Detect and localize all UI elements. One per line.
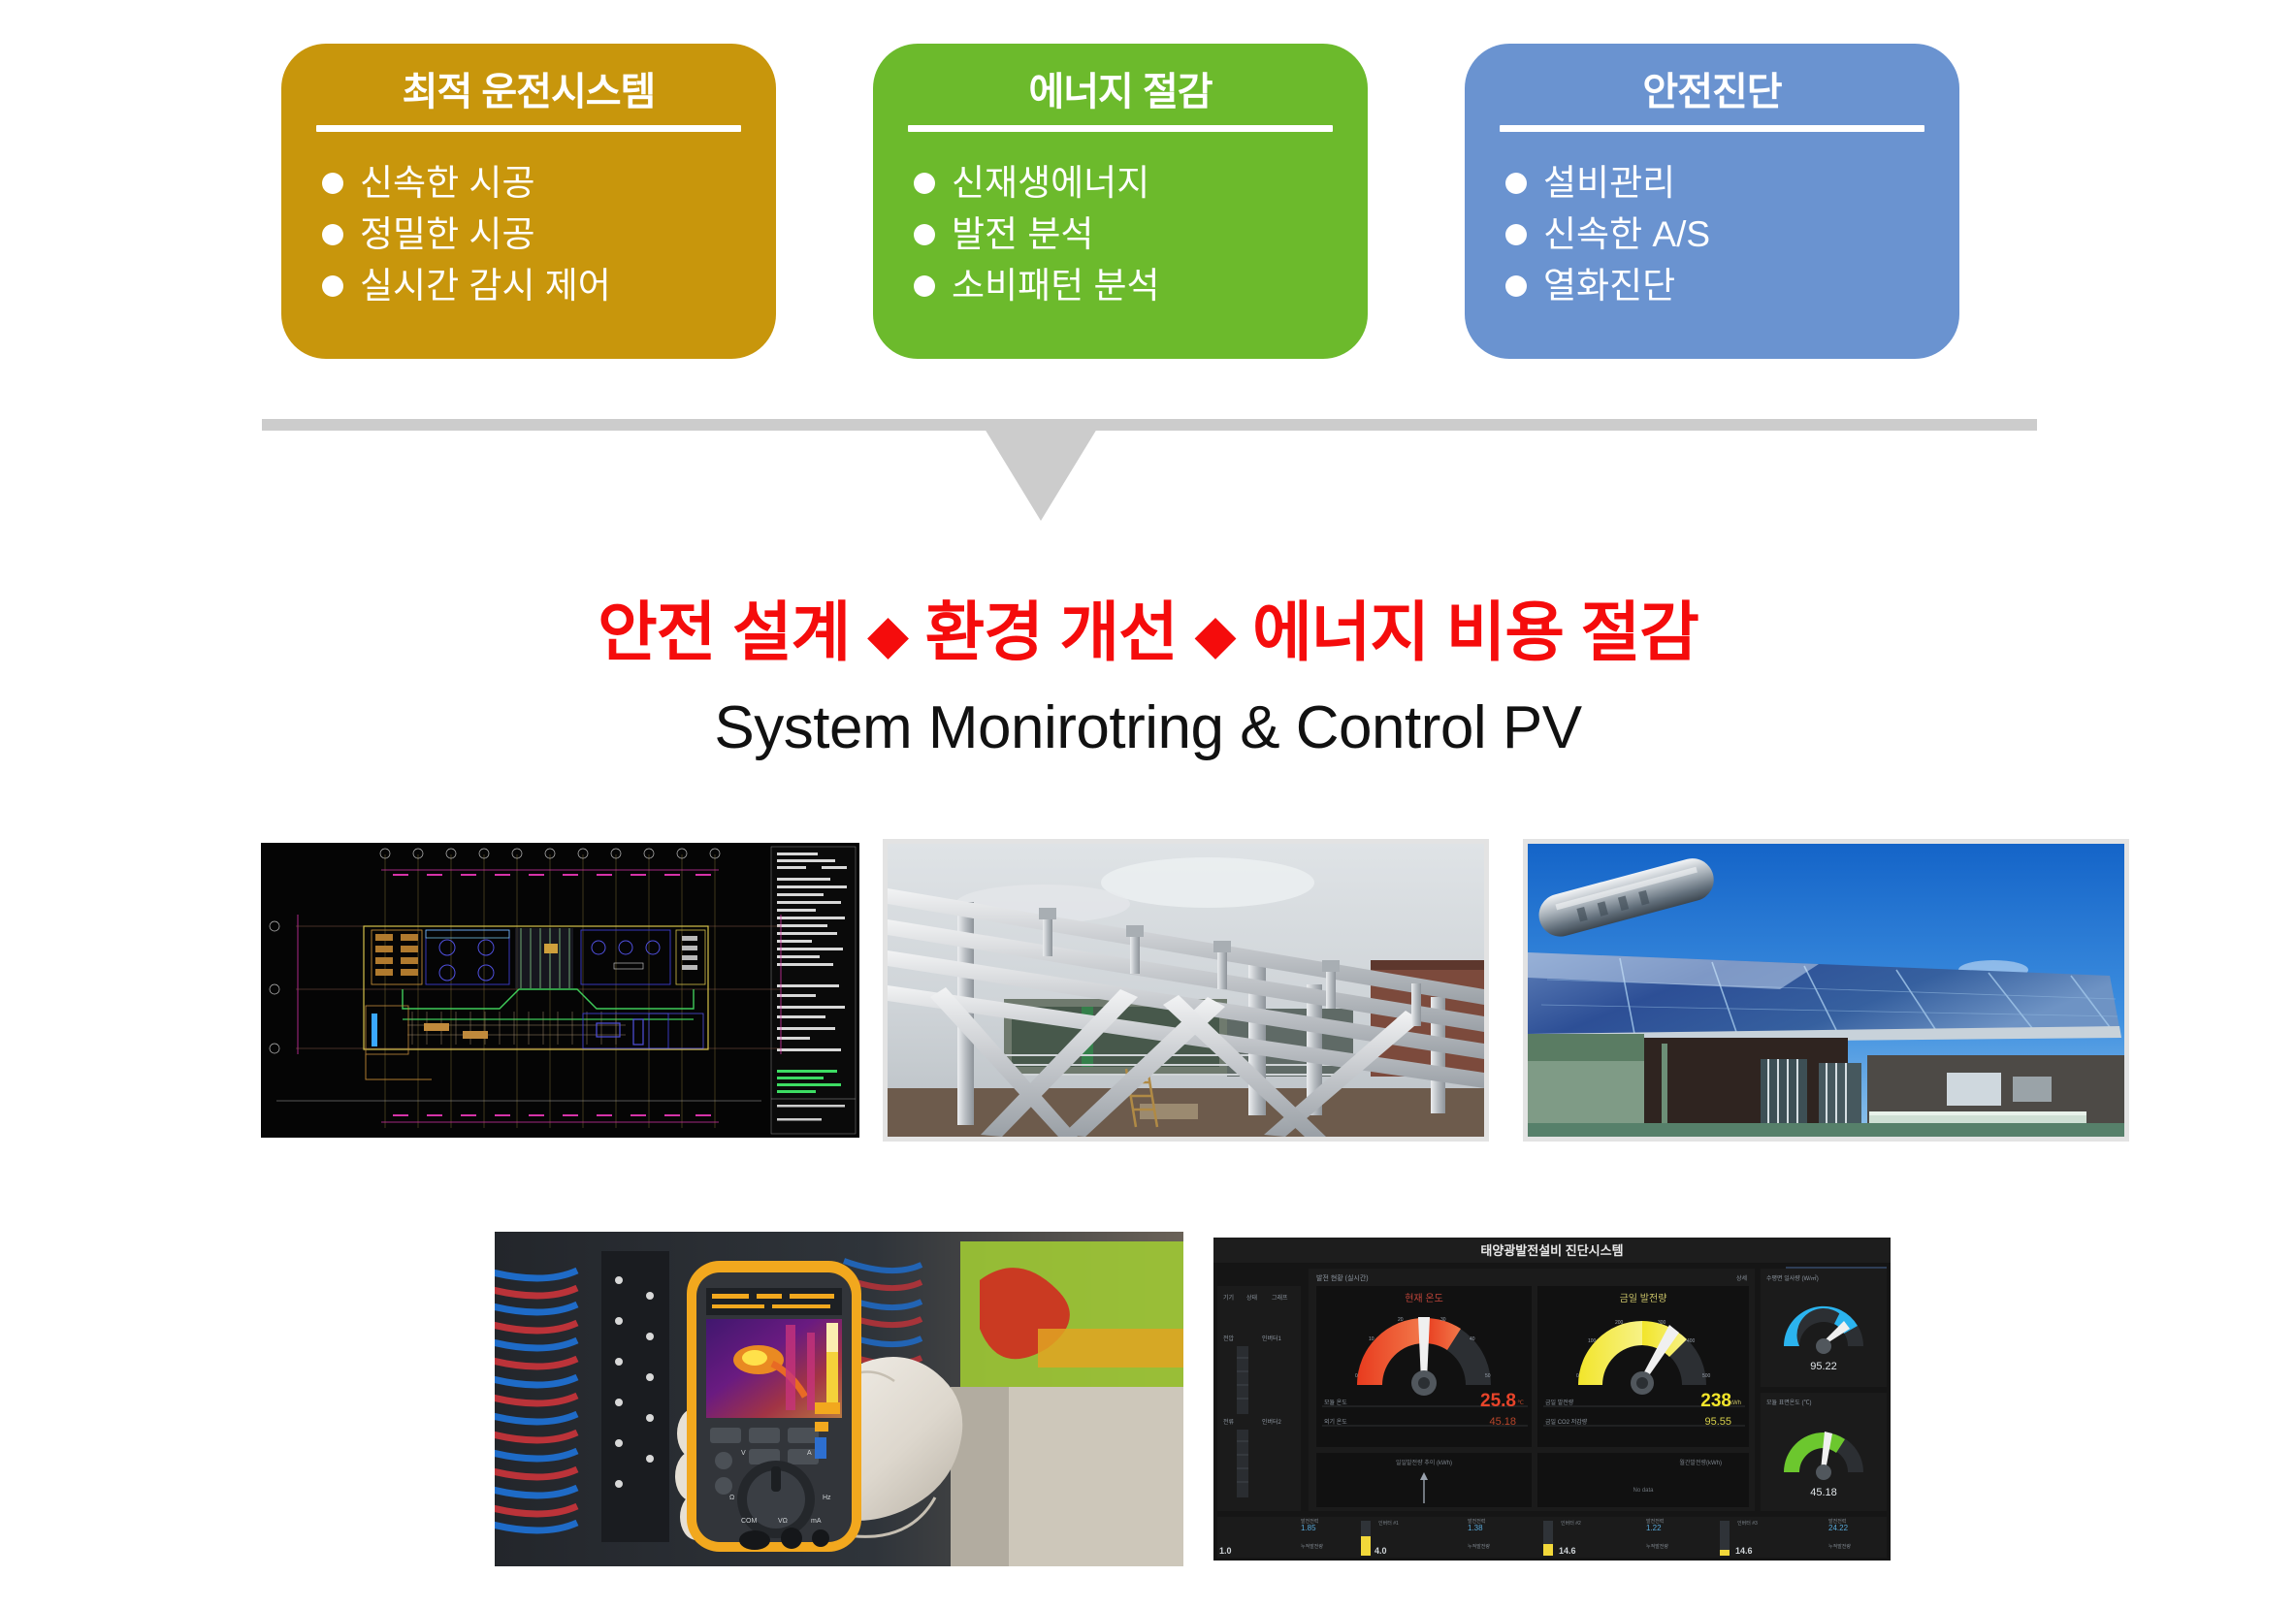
cad-drawing-image xyxy=(257,839,863,1142)
headline-part-2: 환경 개선 xyxy=(925,596,1178,669)
gauge-value-generation: 238 xyxy=(1700,1391,1731,1411)
list-item-label: 정밀한 시공 xyxy=(360,209,534,260)
photo-monitoring-dashboard: 태양광발전설비 진단시스템 현재 기기상태그래프 전압인버터1 전류인버터2 발… xyxy=(1208,1232,1896,1566)
dashboard-screenshot-image: 태양광발전설비 진단시스템 현재 기기상태그래프 전압인버터1 전류인버터2 발… xyxy=(1208,1232,1896,1566)
svg-text:14.6: 14.6 xyxy=(1735,1546,1753,1556)
list-item: 발전 분석 xyxy=(914,209,1335,260)
list-item: 열화진단 xyxy=(1505,260,1926,311)
svg-text:50: 50 xyxy=(1485,1373,1491,1379)
list-item-label: 발전 분석 xyxy=(952,209,1093,260)
svg-text:30: 30 xyxy=(1440,1317,1446,1323)
feature-card-safety-diagnosis[interactable]: 안전진단 설비관리 신속한 A/S 열화진단 xyxy=(1465,44,1959,359)
diamond-icon: ◆ xyxy=(1194,603,1235,664)
bullet-dot-icon xyxy=(914,224,935,245)
svg-text:수평면 일사량 (W/㎡): 수평면 일사량 (W/㎡) xyxy=(1766,1274,1819,1282)
bullet-dot-icon xyxy=(1505,275,1527,297)
list-item-label: 신재생에너지 xyxy=(952,157,1149,209)
svg-text:인버터1: 인버터1 xyxy=(1262,1335,1282,1342)
svg-text:일일발전량 추이 (kWh): 일일발전량 추이 (kWh) xyxy=(1396,1459,1452,1466)
svg-text:0: 0 xyxy=(1576,1373,1579,1379)
gauge-value-temperature: 25.8 xyxy=(1480,1391,1516,1411)
svg-text:Hz: Hz xyxy=(823,1495,831,1501)
headline-part-3: 에너지 비용 절감 xyxy=(1252,596,1698,669)
svg-text:발전전력: 발전전력 xyxy=(1468,1518,1485,1525)
svg-text:누적발전량: 누적발전량 xyxy=(1828,1543,1851,1550)
gauge-value-module-temp: 45.18 xyxy=(1810,1487,1837,1498)
bullet-dot-icon xyxy=(914,173,935,194)
section-divider xyxy=(262,419,2037,535)
bullet-dot-icon xyxy=(322,275,343,297)
svg-text:인버터 #2: 인버터 #2 xyxy=(1561,1520,1581,1527)
svg-text:인버터2: 인버터2 xyxy=(1262,1418,1282,1426)
card-title-rule xyxy=(908,125,1333,132)
list-item-label: 신속한 시공 xyxy=(360,157,534,209)
gauge-value-irradiance: 95.22 xyxy=(1810,1361,1837,1372)
svg-text:24.22: 24.22 xyxy=(1828,1524,1849,1532)
svg-text:발전 현황 (실시간): 발전 현황 (실시간) xyxy=(1316,1273,1369,1282)
divider-bar xyxy=(262,419,2037,431)
bullet-dot-icon xyxy=(914,275,935,297)
svg-text:0: 0 xyxy=(1355,1373,1358,1379)
list-item: 소비패턴 분석 xyxy=(914,260,1335,311)
card-title-rule xyxy=(1500,125,1924,132)
svg-text:상태: 상태 xyxy=(1246,1294,1257,1302)
list-item-label: 설비관리 xyxy=(1543,157,1675,209)
svg-text:300: 300 xyxy=(1658,1320,1666,1326)
dashboard-title-text: 태양광발전설비 진단시스템 xyxy=(1480,1243,1623,1258)
svg-text:1.85: 1.85 xyxy=(1301,1524,1316,1532)
list-item-label: 소비패턴 분석 xyxy=(952,260,1160,311)
list-item-label: 신속한 A/S xyxy=(1543,209,1710,260)
svg-text:외기 온도: 외기 온도 xyxy=(1324,1418,1347,1426)
photo-solar-pv-rooftop xyxy=(1523,839,2129,1142)
svg-text:kWh: kWh xyxy=(1730,1400,1741,1406)
page-headline: 안전 설계 ◆ 환경 개선 ◆ 에너지 비용 절감 xyxy=(0,580,2296,674)
bullet-dot-icon xyxy=(322,173,343,194)
svg-text:V: V xyxy=(741,1450,746,1457)
card-bullet-list: 신속한 시공 정밀한 시공 실시간 감시 제어 xyxy=(314,157,743,311)
card-bullet-list: 설비관리 신속한 A/S 열화진단 xyxy=(1498,157,1926,311)
card-bullet-list: 신재생에너지 발전 분석 소비패턴 분석 xyxy=(906,157,1335,311)
svg-text:월간발전량(kWh): 월간발전량(kWh) xyxy=(1679,1459,1722,1466)
svg-text:금일 발전량: 금일 발전량 xyxy=(1545,1399,1574,1406)
card-title: 에너지 절감 xyxy=(906,65,1335,119)
list-item: 정밀한 시공 xyxy=(322,209,743,260)
svg-text:현재 온도: 현재 온도 xyxy=(1405,1293,1443,1304)
photo-thermal-multimeter: VA ΩHz COMVΩmA xyxy=(495,1232,1183,1566)
bullet-dot-icon xyxy=(1505,173,1527,194)
svg-text:4.0: 4.0 xyxy=(1374,1546,1387,1556)
svg-text:발전전력: 발전전력 xyxy=(1646,1518,1664,1525)
gauge-subvalue-temperature: 45.18 xyxy=(1489,1416,1516,1428)
down-triangle-icon xyxy=(985,429,1097,521)
bullet-dot-icon xyxy=(322,224,343,245)
list-item: 신속한 A/S xyxy=(1505,209,1926,260)
list-item: 신속한 시공 xyxy=(322,157,743,209)
list-item: 신재생에너지 xyxy=(914,157,1335,209)
gauge-subvalue-co2: 95.55 xyxy=(1704,1416,1731,1428)
svg-text:모듈 표면온도 (℃): 모듈 표면온도 (℃) xyxy=(1766,1399,1811,1406)
svg-text:mA: mA xyxy=(811,1518,822,1525)
svg-text:1.0: 1.0 xyxy=(1219,1546,1232,1556)
svg-text:누적발전량: 누적발전량 xyxy=(1468,1543,1490,1550)
svg-text:100: 100 xyxy=(1588,1338,1597,1344)
thermal-multimeter-image: VA ΩHz COMVΩmA xyxy=(495,1232,1183,1566)
svg-text:상세: 상세 xyxy=(1736,1274,1747,1282)
list-item: 실시간 감시 제어 xyxy=(322,260,743,311)
svg-text:전압: 전압 xyxy=(1223,1335,1235,1342)
svg-text:기기: 기기 xyxy=(1223,1294,1234,1302)
svg-text:200: 200 xyxy=(1615,1320,1624,1326)
svg-text:1.38: 1.38 xyxy=(1468,1524,1483,1532)
svg-text:A: A xyxy=(807,1450,812,1457)
list-item-label: 실시간 감시 제어 xyxy=(360,260,611,311)
svg-text:500: 500 xyxy=(1702,1373,1711,1379)
svg-text:14.6: 14.6 xyxy=(1559,1546,1576,1556)
svg-text:금일 발전량: 금일 발전량 xyxy=(1620,1293,1667,1304)
page-subheadline: System Monirotring & Control PV xyxy=(0,693,2296,762)
svg-text:10: 10 xyxy=(1369,1336,1374,1342)
svg-text:모듈 온도: 모듈 온도 xyxy=(1324,1400,1347,1406)
svg-text:℃: ℃ xyxy=(1517,1400,1524,1406)
svg-text:전류: 전류 xyxy=(1223,1418,1235,1426)
svg-text:인버터 #3: 인버터 #3 xyxy=(1737,1520,1758,1527)
svg-text:그래프: 그래프 xyxy=(1272,1294,1288,1302)
svg-text:400: 400 xyxy=(1687,1338,1696,1344)
svg-text:발전전력: 발전전력 xyxy=(1301,1518,1318,1525)
photo-steel-structure xyxy=(883,839,1489,1142)
svg-text:인버터 #1: 인버터 #1 xyxy=(1378,1520,1399,1527)
svg-text:VΩ: VΩ xyxy=(778,1518,788,1525)
headline-part-1: 안전 설계 xyxy=(598,596,850,669)
list-item-label: 열화진단 xyxy=(1543,260,1675,311)
feature-card-energy-saving[interactable]: 에너지 절감 신재생에너지 발전 분석 소비패턴 분석 xyxy=(873,44,1368,359)
feature-cards-row: 최적 운전시스템 신속한 시공 정밀한 시공 실시간 감시 제어 에너지 절감 … xyxy=(0,0,2296,388)
svg-text:누적발전량: 누적발전량 xyxy=(1646,1543,1668,1550)
list-item: 설비관리 xyxy=(1505,157,1926,209)
card-title: 최적 운전시스템 xyxy=(314,65,743,119)
bullet-dot-icon xyxy=(1505,224,1527,245)
diamond-icon: ◆ xyxy=(867,603,908,664)
steel-structure-image xyxy=(888,844,1484,1137)
svg-text:누적발전량: 누적발전량 xyxy=(1301,1543,1323,1550)
card-title-rule xyxy=(316,125,741,132)
svg-text:No data: No data xyxy=(1633,1488,1654,1494)
svg-text:40: 40 xyxy=(1470,1336,1475,1342)
feature-card-optimal-operation-system[interactable]: 최적 운전시스템 신속한 시공 정밀한 시공 실시간 감시 제어 xyxy=(281,44,776,359)
svg-text:Ω: Ω xyxy=(729,1495,734,1501)
svg-text:발전전력: 발전전력 xyxy=(1828,1518,1846,1525)
svg-text:금일 CO2 저감량: 금일 CO2 저감량 xyxy=(1545,1418,1588,1426)
photo-cad-floor-plan xyxy=(257,839,863,1142)
svg-text:COM: COM xyxy=(741,1518,758,1525)
svg-text:20: 20 xyxy=(1398,1317,1404,1323)
card-title: 안전진단 xyxy=(1498,65,1926,119)
solar-panel-image xyxy=(1528,844,2124,1137)
svg-text:1.22: 1.22 xyxy=(1646,1524,1662,1532)
